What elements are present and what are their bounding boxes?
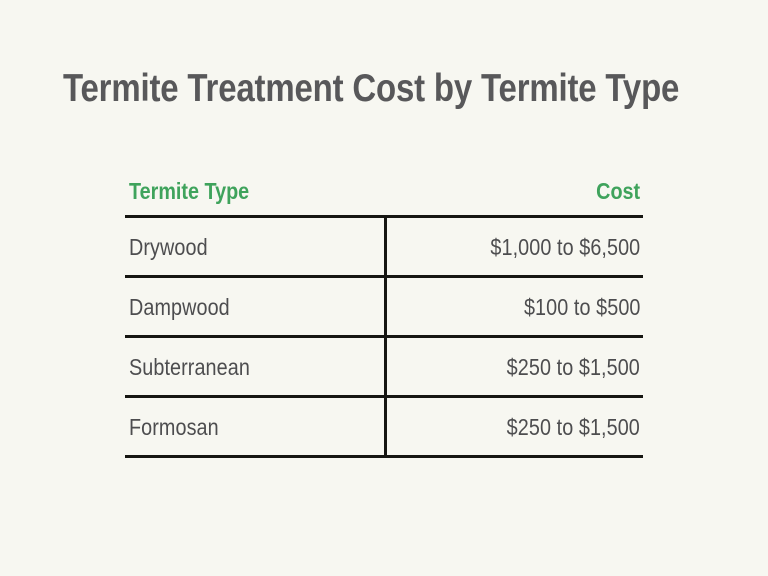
column-header-termite-type-label: Termite Type (129, 178, 249, 204)
cell-termite-type: Dampwood (125, 277, 385, 337)
table-header-row: Termite Type Cost (125, 178, 643, 217)
table-row: Formosan $250 to $1,500 (125, 397, 643, 457)
infographic-canvas: Termite Treatment Cost by Termite Type T… (0, 0, 768, 576)
cell-termite-type-text: Dampwood (129, 293, 230, 321)
table-row: Subterranean $250 to $1,500 (125, 337, 643, 397)
cell-termite-type-text: Subterranean (129, 353, 250, 381)
cell-cost: $250 to $1,500 (385, 397, 643, 457)
table-row: Drywood $1,000 to $6,500 (125, 217, 643, 277)
cell-termite-type-text: Formosan (129, 413, 219, 441)
table-body: Drywood $1,000 to $6,500 Dampwood $100 t… (125, 217, 643, 457)
table-row: Dampwood $100 to $500 (125, 277, 643, 337)
table-header: Termite Type Cost (125, 178, 643, 217)
cell-cost-text: $250 to $1,500 (507, 413, 640, 441)
cell-cost-text: $1,000 to $6,500 (490, 233, 640, 261)
cost-table-wrapper: Termite Type Cost Drywood $1,000 to $6,5… (125, 178, 643, 458)
cell-termite-type-text: Drywood (129, 233, 208, 261)
cell-cost: $100 to $500 (385, 277, 643, 337)
cell-cost: $1,000 to $6,500 (385, 217, 643, 277)
cell-cost-text: $250 to $1,500 (507, 353, 640, 381)
page-title: Termite Treatment Cost by Termite Type (63, 66, 621, 112)
column-header-termite-type: Termite Type (125, 178, 385, 217)
cell-cost: $250 to $1,500 (385, 337, 643, 397)
cell-termite-type: Drywood (125, 217, 385, 277)
cell-termite-type: Subterranean (125, 337, 385, 397)
column-header-cost-label: Cost (596, 178, 640, 204)
cell-cost-text: $100 to $500 (523, 293, 640, 321)
termite-cost-table: Termite Type Cost Drywood $1,000 to $6,5… (125, 178, 643, 458)
column-header-cost: Cost (385, 178, 643, 217)
cell-termite-type: Formosan (125, 397, 385, 457)
